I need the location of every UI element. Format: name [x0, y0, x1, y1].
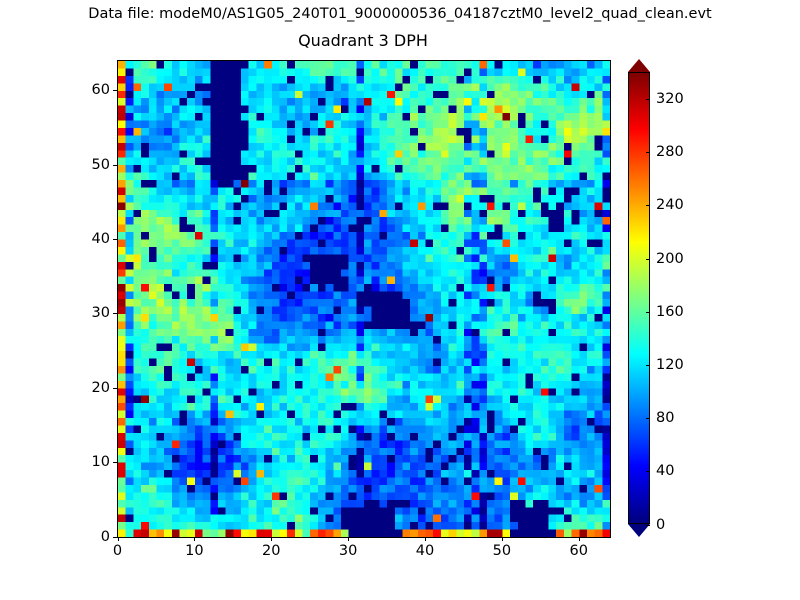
colorbar-tick-mark — [646, 471, 650, 472]
x-tick-label: 30 — [339, 543, 357, 559]
colorbar-tick-label: 320 — [656, 91, 684, 107]
colorbar-tick-label: 80 — [656, 410, 674, 426]
y-tick-label: 10 — [92, 454, 110, 470]
y-tick-mark — [113, 313, 117, 314]
colorbar-tick-mark — [646, 525, 650, 526]
y-tick-label: 30 — [92, 305, 110, 321]
colorbar-tick-mark — [646, 312, 650, 313]
y-tick-mark — [113, 90, 117, 91]
y-tick-label: 20 — [92, 380, 110, 396]
colorbar-tick-label: 0 — [656, 517, 665, 533]
data-file-label: Data file: modeM0/AS1G05_240T01_90000005… — [0, 6, 800, 22]
page-title: Quadrant 3 DPH — [117, 31, 609, 50]
x-tick-label: 50 — [493, 543, 511, 559]
colorbar-canvas — [629, 73, 649, 523]
y-tick-label: 40 — [92, 231, 110, 247]
heatmap-axes[interactable] — [117, 60, 611, 538]
colorbar-tick-label: 280 — [656, 144, 684, 160]
colorbar-extend-min-arrow — [628, 524, 650, 537]
colorbar-extend-max-arrow — [628, 59, 650, 72]
y-tick-mark — [113, 388, 117, 389]
y-tick-mark — [113, 537, 117, 538]
colorbar-tick-mark — [646, 365, 650, 366]
colorbar-tick-mark — [646, 259, 650, 260]
colorbar-tick-mark — [646, 152, 650, 153]
colorbar-gradient — [628, 72, 650, 524]
heatmap-image[interactable] — [118, 61, 610, 537]
colorbar-tick-label: 200 — [656, 251, 684, 267]
x-tick-mark — [271, 537, 272, 541]
y-tick-mark — [113, 239, 117, 240]
x-tick-mark — [118, 537, 119, 541]
colorbar-tick-mark — [646, 418, 650, 419]
colorbar-tick-mark — [646, 205, 650, 206]
colorbar-tick-label: 120 — [656, 357, 684, 373]
x-tick-mark — [425, 537, 426, 541]
x-tick-label: 60 — [570, 543, 588, 559]
x-tick-mark — [502, 537, 503, 541]
y-tick-label: 50 — [92, 157, 110, 173]
y-tick-mark — [113, 165, 117, 166]
x-tick-mark — [348, 537, 349, 541]
colorbar-tick-label: 40 — [656, 463, 674, 479]
x-tick-label: 10 — [185, 543, 203, 559]
x-tick-label: 20 — [262, 543, 280, 559]
y-tick-mark — [113, 462, 117, 463]
y-tick-label: 0 — [101, 529, 110, 545]
colorbar[interactable] — [628, 60, 650, 536]
x-tick-label: 40 — [416, 543, 434, 559]
colorbar-tick-label: 240 — [656, 197, 684, 213]
x-tick-mark — [579, 537, 580, 541]
x-tick-mark — [194, 537, 195, 541]
figure-canvas: Data file: modeM0/AS1G05_240T01_90000005… — [0, 0, 800, 600]
colorbar-tick-label: 160 — [656, 304, 684, 320]
x-tick-label: 0 — [113, 543, 122, 559]
y-tick-label: 60 — [92, 82, 110, 98]
colorbar-tick-mark — [646, 99, 650, 100]
